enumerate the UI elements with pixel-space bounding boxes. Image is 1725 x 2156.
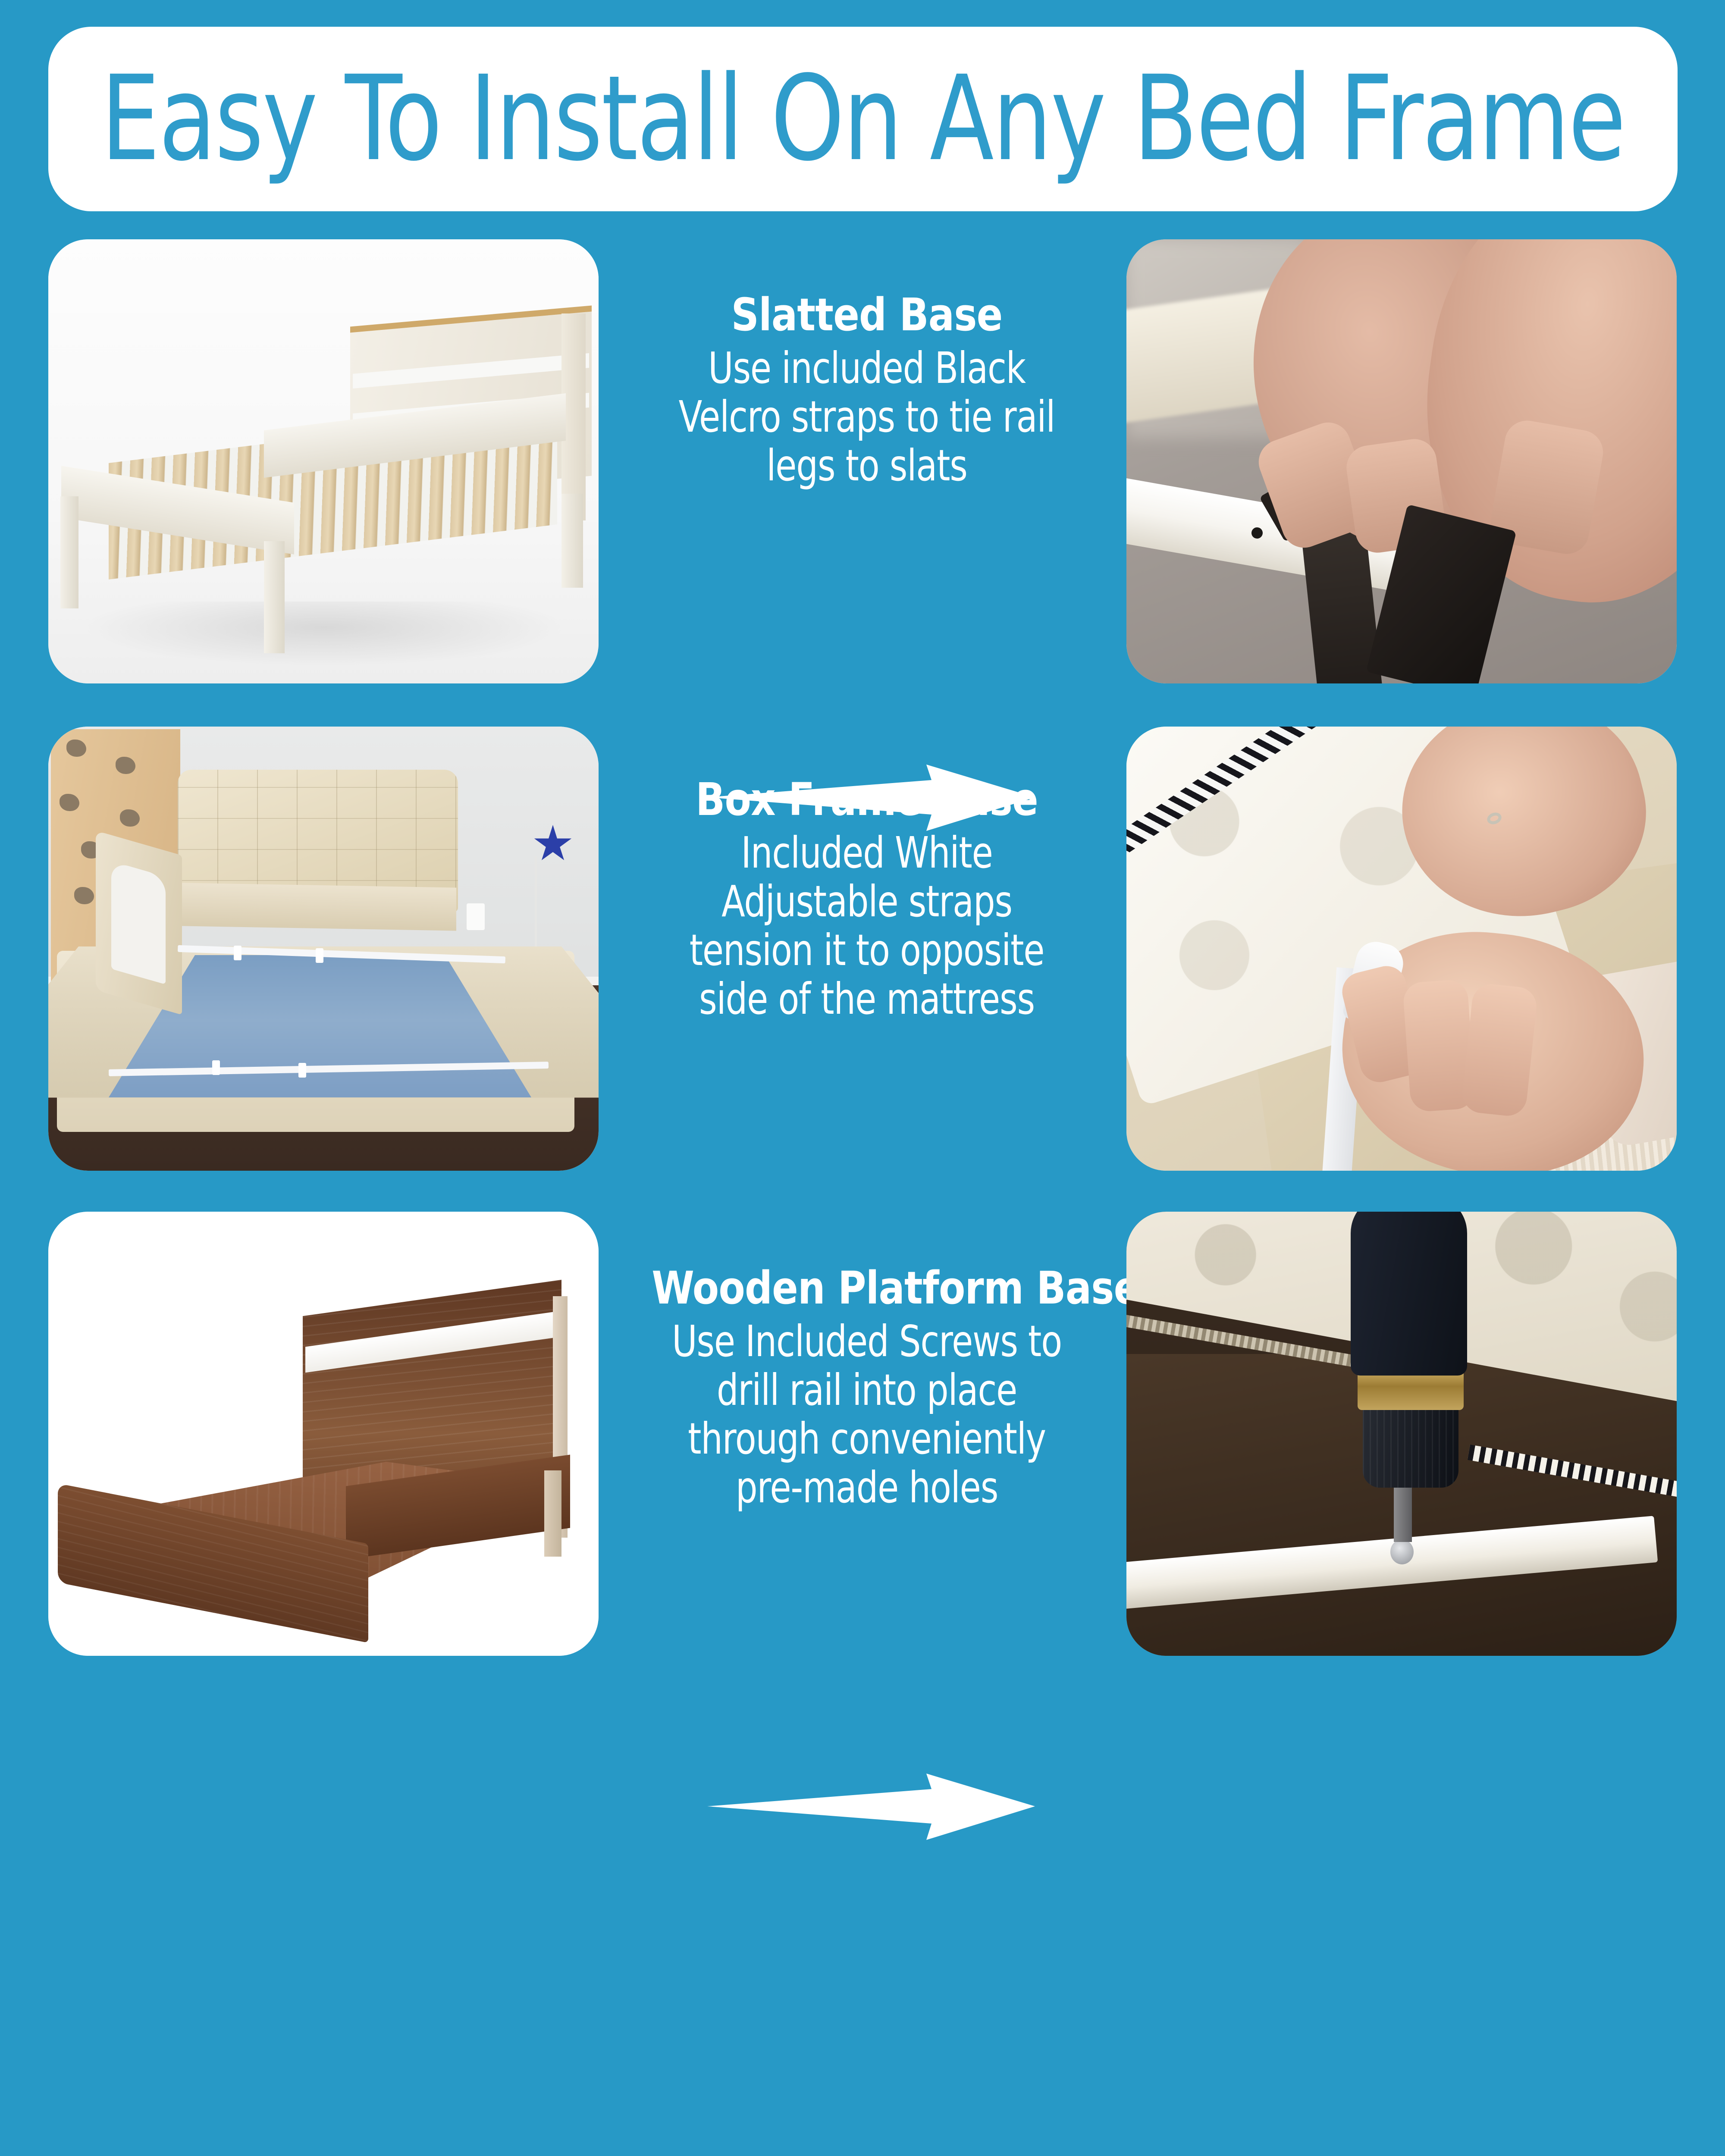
arrow-right-icon: [707, 1770, 1035, 1843]
velcro-strap-install-photo: [1126, 239, 1677, 683]
wooden-platform-bed-photo: [48, 1212, 599, 1656]
step-heading: Wooden Platform Base: [652, 1263, 1082, 1313]
step-body: Included White Adjustable straps tension…: [667, 828, 1067, 1023]
slatted-bed-frame-photo: [48, 239, 599, 683]
floor-shadow: [83, 602, 566, 666]
drill-screw-install-photo: [1126, 1212, 1677, 1656]
strap-clip: [212, 1060, 220, 1075]
strap-clip: [316, 948, 323, 963]
wall-outlet: [467, 903, 485, 930]
bed-leg-2: [264, 541, 285, 653]
slatted-bed-frame-illustration: [48, 239, 599, 683]
climbing-hold: [66, 740, 86, 757]
drill-chuck: [1363, 1406, 1458, 1488]
step-row-box-frame-base: Box Frame Base Included White Adjustable…: [0, 727, 1725, 1171]
strap-clip: [298, 1063, 306, 1078]
step-heading: Slatted Base: [652, 290, 1082, 339]
drill-body: [1351, 1212, 1467, 1376]
climbing-hold: [60, 794, 79, 811]
page-title: Easy To Install On Any Bed Frame: [101, 60, 1625, 178]
drill-screw-illustration: [1126, 1212, 1677, 1656]
white-strap-install-photo: [1126, 727, 1677, 1171]
step-row-slatted-base: Slatted Base Use included Black Velcro s…: [0, 239, 1725, 683]
step-text-slatted-base: Slatted Base Use included Black Velcro s…: [617, 290, 1117, 490]
climbing-hold: [120, 809, 140, 827]
strap-clip: [234, 946, 241, 960]
bed-rail-mesh: [111, 861, 166, 984]
finger-3: [1461, 982, 1539, 1118]
bed-leg-1: [60, 496, 78, 608]
step-body: Use included Black Velcro straps to tie …: [667, 344, 1067, 490]
platform-side-edge: [544, 1470, 561, 1557]
step-text-box-frame-base: Box Frame Base Included White Adjustable…: [617, 775, 1117, 1023]
step-heading: Box Frame Base: [652, 775, 1082, 824]
box-frame-bed-illustration: [48, 727, 599, 1171]
wooden-platform-bed-illustration: [48, 1212, 599, 1656]
white-strap-illustration: [1126, 727, 1677, 1171]
climbing-hold: [74, 887, 94, 904]
rail-back-panel: [180, 883, 456, 931]
drill-bit: [1394, 1486, 1412, 1542]
step-body: Use Included Screws to drill rail into p…: [667, 1317, 1067, 1512]
screw-head: [1390, 1539, 1414, 1564]
title-banner-card: Easy To Install On Any Bed Frame: [48, 27, 1678, 211]
velcro-strap-illustration: [1126, 239, 1677, 683]
step-row-wooden-platform-base: Wooden Platform Base Use Included Screws…: [0, 1212, 1725, 1656]
climbing-hold: [116, 757, 135, 774]
bed-leg-3: [561, 494, 583, 588]
step-text-wooden-platform-base: Wooden Platform Base Use Included Screws…: [617, 1263, 1117, 1512]
box-frame-bed-photo: [48, 727, 599, 1171]
